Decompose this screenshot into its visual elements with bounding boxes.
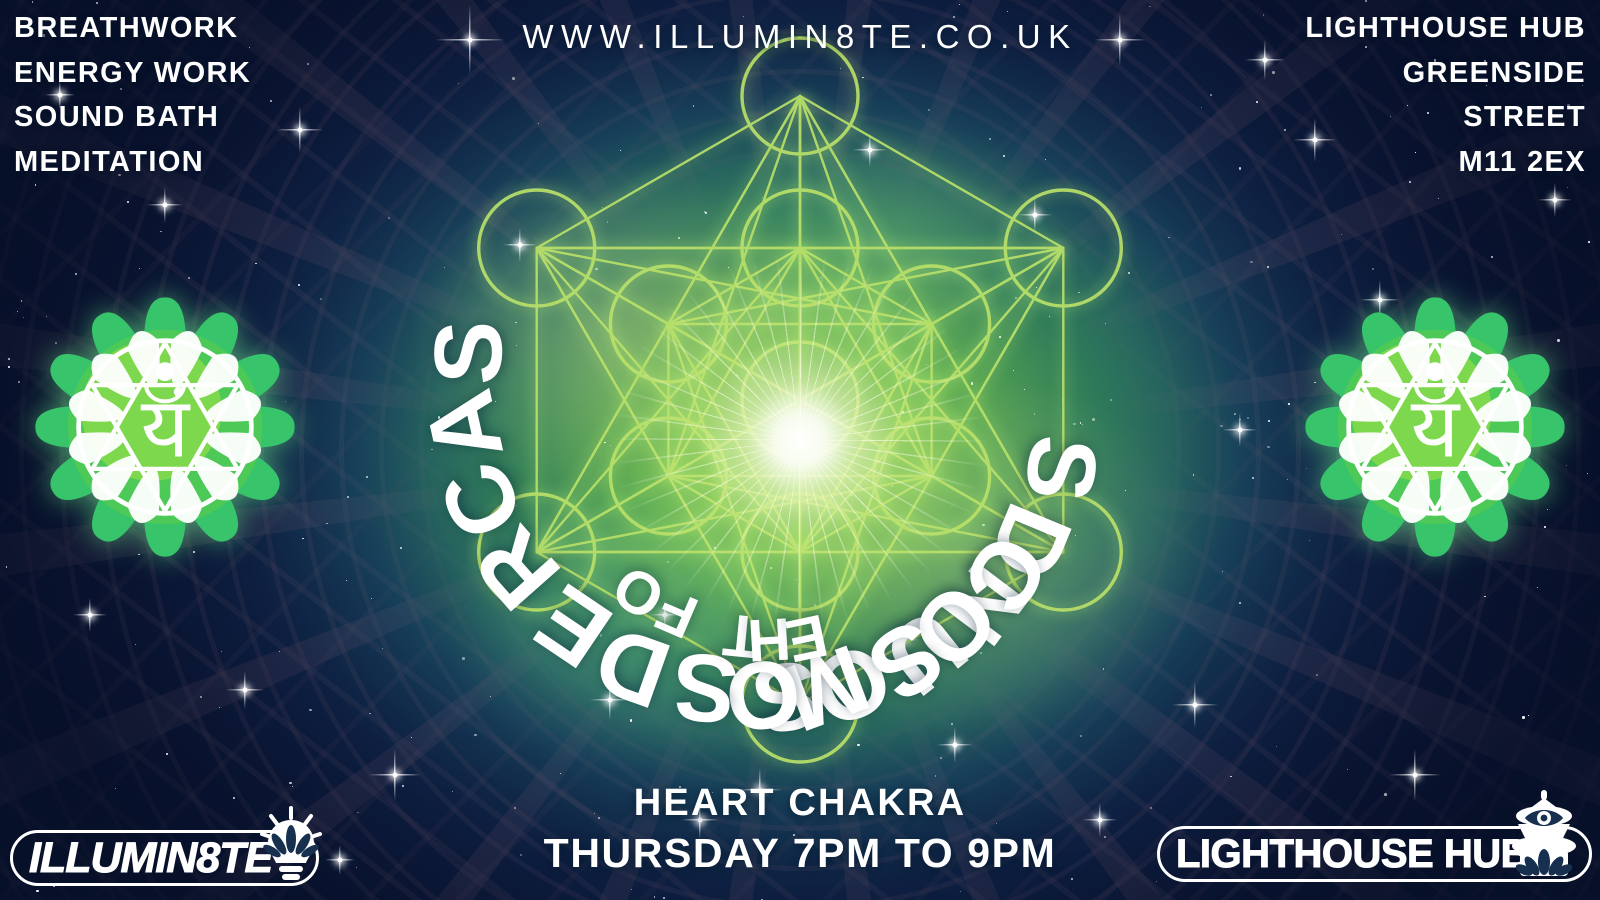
service-item: SOUND BATH xyxy=(14,95,251,140)
lighthouse-hub-logo[interactable]: LIGHTHOUSE HUB xyxy=(1157,826,1592,882)
service-item: MEDITATION xyxy=(14,140,251,185)
burst-glow xyxy=(600,240,1000,640)
service-item: ENERGY WORK xyxy=(14,51,251,96)
event-theme: HEART CHAKRA xyxy=(0,779,1600,828)
illumin8te-logo[interactable]: ILLUMIN8TE xyxy=(10,830,319,886)
venue-line: GREENSIDE xyxy=(1305,51,1586,96)
lightbulb-leaves-icon xyxy=(257,806,325,880)
heart-chakra-symbol-left: यं xyxy=(30,292,300,562)
venue-line: M11 2EX xyxy=(1305,140,1586,185)
lighthouse-eye-lotus-icon xyxy=(1496,788,1592,880)
event-poster: यं यं BREATHWORK ENERGY WORK SOUND BATH … xyxy=(0,0,1600,900)
venue-line: LIGHTHOUSE HUB xyxy=(1305,6,1586,51)
venue-address: LIGHTHOUSE HUB GREENSIDE STREET M11 2EX xyxy=(1305,6,1586,185)
heart-chakra-symbol-right: यं xyxy=(1300,292,1570,562)
venue-line: STREET xyxy=(1305,95,1586,140)
